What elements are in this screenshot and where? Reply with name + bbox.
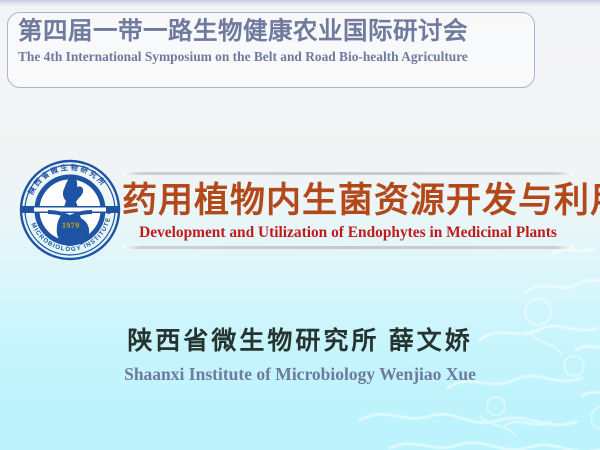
title-divider-top [122, 172, 574, 175]
institute-logo-icon: 1979 MICROBIOLOGY INSTITUTE OF SHAANXI 陕… [18, 158, 122, 262]
symposium-title-cn: 第四届一带一路生物健康农业国际研讨会 [18, 17, 524, 47]
author-affiliation-en: Shaanxi Institute of Microbiology Wenjia… [0, 363, 600, 386]
logo-year-text: 1979 [62, 221, 80, 230]
symposium-title-en: The 4th International Symposium on the B… [18, 49, 524, 65]
author-affiliation-cn: 陕西省微生物研究所 薛文娇 [0, 326, 600, 359]
main-title-en: Development and Utilization of Endophyte… [122, 224, 574, 242]
main-title-block: 药用植物内生菌资源开发与利用 Development and Utilizati… [122, 172, 574, 249]
author-block: 陕西省微生物研究所 薛文娇 Shaanxi Institute of Micro… [0, 326, 600, 385]
presentation-slide: 第四届一带一路生物健康农业国际研讨会 The 4th International… [0, 0, 600, 450]
main-title-cn: 药用植物内生菌资源开发与利用 [122, 179, 574, 222]
top-accent-band [0, 0, 600, 6]
title-divider-bottom [122, 246, 574, 249]
symposium-header-banner: 第四届一带一路生物健康农业国际研讨会 The 4th International… [7, 12, 535, 88]
